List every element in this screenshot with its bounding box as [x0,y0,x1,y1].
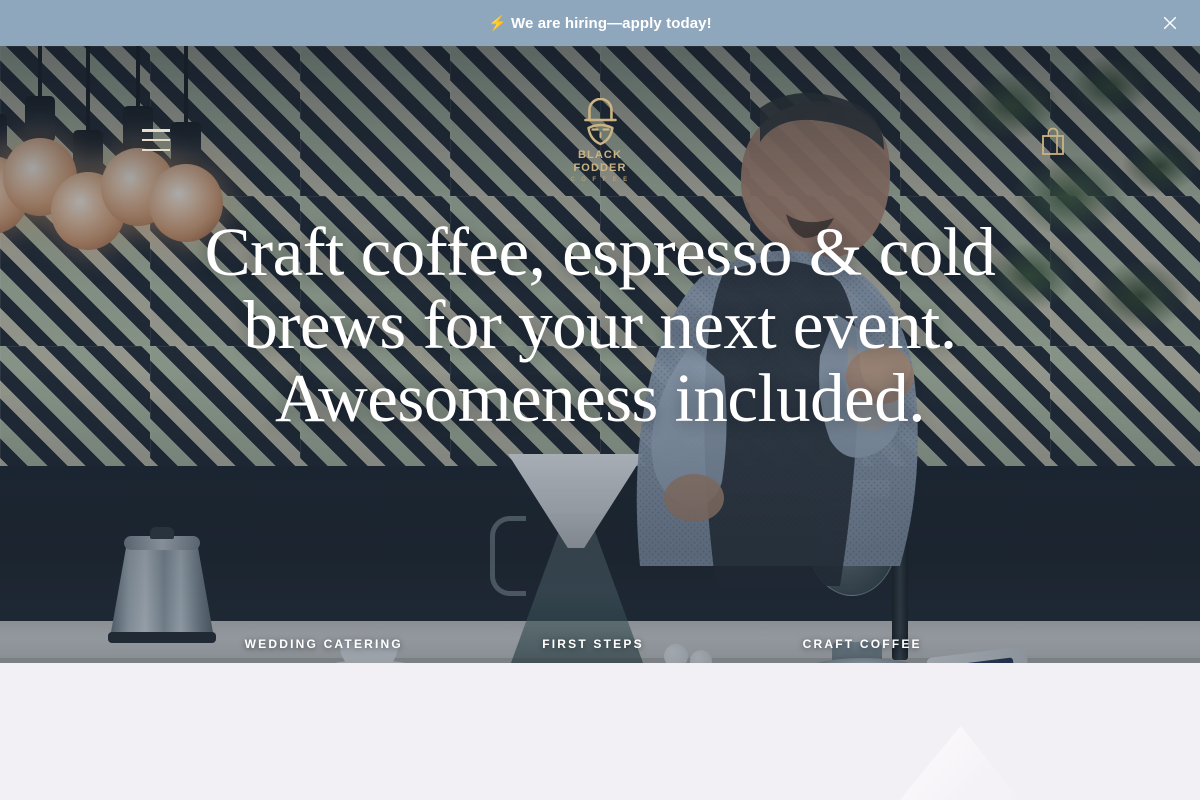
announcement-bar: ⚡We are hiring—apply today! [0,0,1200,46]
hero-section: BLACK FODDER C O F F E E Craft coffee, e… [0,46,1200,663]
hero-nav-item-craft-coffee[interactable]: CRAFT COFFEE [728,637,997,651]
shopping-bag-icon[interactable] [1040,126,1066,156]
logo-subtitle: C O F F E E [570,177,629,183]
hamburger-menu-icon[interactable] [142,129,170,151]
hero-nav-item-event[interactable]: EVENT [0,637,189,651]
hero-title-line-3: Awesomeness included. [275,360,925,436]
announcement-text: ⚡We are hiring—apply today! [488,14,711,32]
logo-name-line1: BLACK [573,149,626,162]
hero-title-line-2: brews for your next event. [243,287,956,363]
hero-copy: Craft coffee, espresso & cold brews for … [0,216,1200,435]
hero-nav-item-first-steps[interactable]: FIRST STEPS [458,637,727,651]
hero-nav-item-social[interactable]: SOCIAL [997,637,1200,651]
page-title: Craft coffee, espresso & cold brews for … [100,216,1100,435]
announcement-message: We are hiring—apply today! [511,15,712,32]
hero-title-line-1: Craft coffee, espresso & cold [205,214,996,290]
decorative-angle-shape [862,726,1032,800]
hero-nav-item-wedding-catering[interactable]: WEDDING CATERING [189,637,458,651]
below-hero-section [0,663,1200,800]
hero-category-nav: EVENT WEDDING CATERING FIRST STEPS CRAFT… [0,632,1200,656]
site-logo[interactable]: BLACK FODDER C O F F E E [570,98,629,183]
logo-name: BLACK FODDER [573,149,626,175]
bearded-man-with-hat-icon [579,98,621,146]
logo-name-line2: FODDER [573,162,626,175]
site-header: BLACK FODDER C O F F E E [0,46,1200,191]
close-icon[interactable] [1156,9,1184,37]
lightning-bolt-icon: ⚡ [488,15,507,32]
